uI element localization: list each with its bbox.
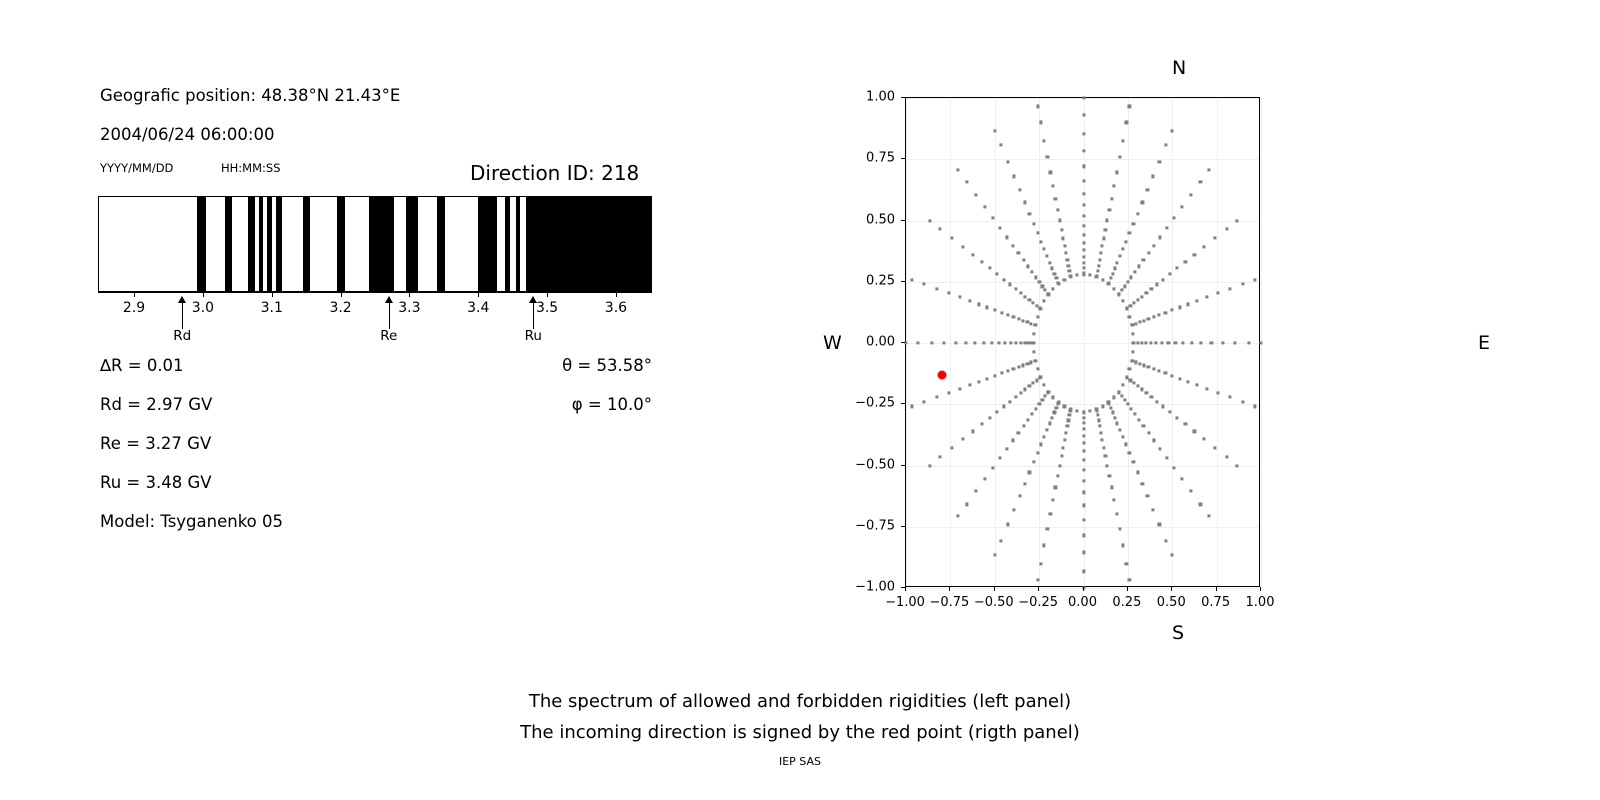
direction-dot [1082, 411, 1085, 414]
direction-dot [1005, 236, 1008, 239]
direction-dot [1032, 461, 1035, 464]
direction-dot [1036, 368, 1039, 371]
direction-dot [1026, 362, 1029, 365]
direction-dot [1060, 455, 1063, 458]
spectrum-tick-label: 3.5 [536, 300, 558, 316]
direction-dot [980, 423, 983, 426]
direction-dot [968, 383, 971, 386]
param-re: Re = 3.27 GV [100, 434, 211, 453]
direction-dot [1082, 272, 1085, 275]
direction-dot [1024, 295, 1027, 298]
direction-dot [1034, 276, 1037, 279]
direction-dot [965, 503, 968, 506]
direction-dot [1142, 259, 1145, 262]
direction-dot [1043, 248, 1046, 251]
direction-dot [988, 416, 991, 419]
direction-dot [977, 380, 980, 383]
direction-dot [1068, 414, 1071, 417]
direction-dot [1118, 255, 1121, 258]
direction-dot [1147, 431, 1150, 434]
direction-dot [1206, 387, 1209, 390]
direction-dot [1121, 435, 1124, 438]
gridline-vertical [1039, 98, 1040, 586]
direction-dot [1041, 285, 1044, 288]
direction-dot [1039, 240, 1042, 243]
direction-dot [1082, 214, 1085, 217]
direction-dot [1064, 431, 1067, 434]
x-axis-tick [1260, 587, 1261, 591]
direction-dot [1082, 570, 1085, 573]
direction-dot [1082, 442, 1085, 445]
direction-dot [1028, 385, 1031, 388]
direction-dot [1067, 419, 1070, 422]
direction-dot [1121, 248, 1124, 251]
direction-dot [1152, 175, 1155, 178]
direction-dot [1199, 503, 1202, 506]
direction-dot [1113, 416, 1116, 419]
direction-dot [1106, 219, 1109, 222]
direction-dot [1176, 416, 1179, 419]
direction-dot [1136, 471, 1139, 474]
direction-dot [1082, 416, 1085, 419]
direction-dot [1121, 544, 1124, 547]
direction-dot [1026, 418, 1029, 421]
forbidden-band [197, 197, 206, 291]
direction-dot [1046, 428, 1049, 431]
direction-dot [1067, 264, 1070, 267]
direction-dot [1036, 578, 1039, 581]
spectrum-tick-label: 3.3 [398, 300, 420, 316]
x-axis-tick-label: −0.50 [974, 595, 1014, 610]
direction-dot [916, 341, 919, 344]
direction-dot [993, 374, 996, 377]
direction-dot [1102, 446, 1105, 449]
direction-dot [1155, 341, 1158, 344]
direction-dot [1193, 253, 1196, 256]
direction-dot [1128, 578, 1131, 581]
direction-dot [1055, 406, 1058, 409]
gridline-vertical [1217, 98, 1218, 586]
direction-dot [1167, 341, 1170, 344]
direction-dot [1207, 515, 1210, 518]
direction-dot [983, 477, 986, 480]
direction-dot [1097, 419, 1100, 422]
direction-dot [1149, 341, 1152, 344]
x-axis-tick-label: 0.50 [1157, 595, 1186, 610]
direction-dot [1200, 341, 1203, 344]
direction-dot [1101, 438, 1104, 441]
direction-dot [1038, 402, 1041, 405]
spectrum-tick-label: 3.0 [192, 300, 214, 316]
direction-dot [1196, 383, 1199, 386]
direction-dot [910, 405, 913, 408]
direction-dot [1036, 231, 1039, 234]
y-axis-tick-label: 0.00 [843, 335, 895, 350]
direction-dot [1203, 438, 1206, 441]
direction-dot [1108, 474, 1111, 477]
param-rd: Rd = 2.97 GV [100, 395, 212, 414]
direction-dot [1066, 258, 1069, 261]
direction-dot [1158, 523, 1161, 526]
direction-dot [993, 129, 996, 132]
direction-dot [1147, 365, 1150, 368]
direction-dot [988, 267, 991, 270]
direction-dot [1184, 260, 1187, 263]
direction-dot [1213, 446, 1216, 449]
direction-dot [1012, 508, 1015, 511]
direction-dot [961, 438, 964, 441]
direction-dot [1145, 291, 1148, 294]
direction-dot [1123, 398, 1126, 401]
forbidden-band [267, 197, 272, 291]
direction-dot [1069, 409, 1072, 412]
marker-arrowhead-icon [178, 296, 186, 303]
direction-scatter-plot [905, 97, 1260, 587]
direction-dot [1199, 180, 1202, 183]
direction-dot [1193, 430, 1196, 433]
direction-dot [1082, 428, 1085, 431]
spectrum-tick-label: 3.2 [329, 300, 351, 316]
direction-dot [1121, 300, 1124, 303]
direction-dot [1124, 443, 1127, 446]
direction-dot [1031, 341, 1034, 344]
direction-dot [1228, 396, 1231, 399]
forbidden-band [303, 197, 310, 291]
forbidden-band [516, 197, 520, 291]
direction-dot [1242, 282, 1245, 285]
direction-dot [1068, 269, 1071, 272]
direction-dot [1008, 283, 1011, 286]
direction-dot [1054, 197, 1057, 200]
direction-dot [1171, 554, 1174, 557]
direction-dot [935, 396, 938, 399]
direction-dot [1116, 261, 1119, 264]
incoming-direction-marker [937, 370, 946, 379]
direction-dot [922, 401, 925, 404]
direction-dot [1118, 527, 1121, 530]
x-axis-tick-label: −1.00 [885, 595, 925, 610]
param-ru: Ru = 3.48 GV [100, 473, 212, 492]
direction-dot [1128, 231, 1131, 234]
direction-dot [1006, 369, 1009, 372]
direction-dot [971, 253, 974, 256]
right-panel: −1.00−0.75−0.50−0.250.000.250.500.751.00… [800, 0, 1600, 660]
direction-dot [1051, 185, 1054, 188]
direction-dot [1034, 407, 1037, 410]
direction-dot [1043, 544, 1046, 547]
forbidden-band [406, 197, 418, 291]
direction-dot [1056, 208, 1059, 211]
forbidden-band [248, 197, 255, 291]
direction-dot [1180, 205, 1183, 208]
direction-dot [1213, 237, 1216, 240]
direction-dot [983, 205, 986, 208]
direction-dot [1051, 267, 1054, 270]
direction-dot [1014, 396, 1017, 399]
direction-dot [975, 193, 978, 196]
direction-dot [950, 446, 953, 449]
direction-dot [1137, 265, 1140, 268]
direction-dot [1012, 315, 1015, 318]
direction-dot [1046, 156, 1049, 159]
direction-dot [1095, 274, 1098, 277]
direction-dot [1137, 418, 1140, 421]
direction-dot [1126, 402, 1129, 405]
direction-dot [996, 273, 999, 276]
direction-dot [1015, 341, 1018, 344]
direction-dot [1144, 341, 1147, 344]
direction-dot [1063, 278, 1066, 281]
direction-dot [922, 282, 925, 285]
direction-dot [1033, 323, 1036, 326]
direction-dot [1082, 96, 1085, 99]
spectrum-tick [616, 292, 617, 297]
direction-dot [1023, 482, 1026, 485]
direction-dot [1096, 269, 1099, 272]
direction-dot [997, 341, 1000, 344]
direction-dot [1111, 411, 1114, 414]
gridline-horizontal [906, 282, 1259, 283]
direction-dot [1203, 245, 1206, 248]
direction-dot [1082, 113, 1085, 116]
marker-arrowhead-icon [529, 296, 537, 303]
spectrum-tick-label: 2.9 [123, 300, 145, 316]
direction-dot [1147, 252, 1150, 255]
x-axis-tick [1216, 587, 1217, 591]
direction-dot [1253, 278, 1256, 281]
forbidden-band [369, 197, 395, 291]
direction-dot [1113, 267, 1116, 270]
direction-dot [1017, 365, 1020, 368]
direction-dot [1039, 443, 1042, 446]
direction-dot [1101, 405, 1104, 408]
direction-dot [1142, 424, 1145, 427]
direction-dot [1069, 274, 1072, 277]
param-phi: φ = 10.0° [572, 395, 652, 414]
forbidden-band [478, 197, 497, 291]
direction-dot [1088, 273, 1091, 276]
direction-dot [1112, 185, 1115, 188]
direction-dot [1178, 377, 1181, 380]
direction-dot [1082, 504, 1085, 507]
direction-dot [1189, 193, 1192, 196]
direction-dot [986, 377, 989, 380]
direction-id-label: Direction ID: 218 [470, 161, 639, 185]
direction-dot [1011, 439, 1014, 442]
direction-dot [1006, 160, 1009, 163]
time-format-hint: HH:MM:SS [221, 161, 281, 175]
direction-dot [1062, 446, 1065, 449]
direction-dot [1225, 227, 1228, 230]
direction-dot [1048, 422, 1051, 425]
direction-dot [999, 227, 1002, 230]
direction-dot [1111, 272, 1114, 275]
direction-dot [1005, 447, 1008, 450]
direction-dot [1259, 341, 1262, 344]
direction-dot [1012, 367, 1015, 370]
direction-dot [980, 260, 983, 263]
direction-dot [1134, 361, 1137, 364]
direction-dot [1019, 291, 1022, 294]
direction-dot [1028, 212, 1031, 215]
direction-dot [1118, 428, 1121, 431]
direction-dot [1024, 388, 1027, 391]
direction-dot [1228, 287, 1231, 290]
direction-dot [1110, 197, 1113, 200]
direction-dot [1038, 376, 1041, 379]
direction-dot [1097, 264, 1100, 267]
direction-dot [991, 466, 994, 469]
direction-dot [1126, 280, 1129, 283]
direction-dot [1055, 277, 1058, 280]
direction-dot [1002, 405, 1005, 408]
direction-dot [1158, 236, 1161, 239]
direction-dot [1165, 227, 1168, 230]
direction-dot [1082, 518, 1085, 521]
direction-dot [1026, 321, 1029, 324]
direction-dot [986, 306, 989, 309]
datetime-value: 2004/06/24 06:00:00 [100, 125, 274, 144]
direction-dot [1064, 252, 1067, 255]
y-axis-tick [901, 403, 905, 404]
direction-dot [1168, 273, 1171, 276]
direction-dot [1129, 407, 1132, 410]
spectrum-tick-label: 3.4 [467, 300, 489, 316]
direction-dot [1216, 292, 1219, 295]
direction-dot [1180, 477, 1183, 480]
direction-dot [1116, 422, 1119, 425]
direction-dot [1107, 402, 1110, 405]
direction-dot [1033, 359, 1036, 362]
direction-dot [939, 456, 942, 459]
direction-dot [1082, 468, 1085, 471]
direction-dot [1158, 160, 1161, 163]
direction-dot [1168, 410, 1171, 413]
x-axis-tick [1127, 587, 1128, 591]
direction-dot [935, 287, 938, 290]
y-axis-tick-label: −0.50 [843, 457, 895, 472]
direction-dot [1063, 405, 1066, 408]
direction-dot [999, 539, 1002, 542]
direction-dot [1030, 322, 1033, 325]
direction-dot [1032, 301, 1035, 304]
direction-dot [1236, 219, 1239, 222]
direction-dot [1039, 562, 1042, 565]
direction-dot [1152, 508, 1155, 511]
direction-dot [1164, 311, 1167, 314]
direction-dot [1186, 303, 1189, 306]
x-axis-tick [949, 587, 950, 591]
direction-dot [1082, 534, 1085, 537]
direction-dot [1152, 244, 1155, 247]
direction-dot [1022, 424, 1025, 427]
y-axis-tick-label: −1.00 [843, 580, 895, 595]
direction-dot [1036, 105, 1039, 108]
direction-dot [1112, 287, 1115, 290]
direction-dot [1051, 498, 1054, 501]
direction-dot [1206, 296, 1209, 299]
direction-dot [1133, 271, 1136, 274]
direction-dot [1082, 249, 1085, 252]
direction-dot [968, 299, 971, 302]
direction-dot [1140, 295, 1143, 298]
gridline-horizontal [906, 159, 1259, 160]
direction-dot [1109, 277, 1112, 280]
direction-dot [1036, 315, 1039, 318]
direction-dot [1011, 244, 1014, 247]
direction-dot [1106, 464, 1109, 467]
y-axis-tick [901, 220, 905, 221]
y-axis-tick-label: −0.25 [843, 396, 895, 411]
spectrum-tick [203, 292, 204, 297]
direction-dot [1190, 341, 1193, 344]
gridline-vertical [1084, 98, 1085, 586]
direction-dot [1002, 278, 1005, 281]
y-axis-tick-label: 0.50 [843, 212, 895, 227]
x-axis-tick-label: 1.00 [1246, 595, 1275, 610]
direction-dot [1000, 311, 1003, 314]
direction-dot [1128, 315, 1131, 318]
direction-dot [1024, 341, 1027, 344]
direction-dot [1082, 422, 1085, 425]
direction-dot [1017, 317, 1020, 320]
geographic-position: Geografic position: 48.38°N 21.43°E [100, 86, 400, 105]
direction-dot [1053, 272, 1056, 275]
direction-dot [1236, 464, 1239, 467]
direction-dot [1171, 129, 1174, 132]
direction-dot [1058, 464, 1061, 467]
direction-dot [1022, 364, 1025, 367]
direction-dot [1017, 431, 1020, 434]
direction-dot [947, 391, 950, 394]
direction-dot [1022, 319, 1025, 322]
forbidden-band [276, 197, 282, 291]
direction-dot [1044, 289, 1047, 292]
direction-dot [1049, 512, 1052, 515]
direction-dot [1075, 273, 1078, 276]
direction-dot [1075, 409, 1078, 412]
direction-dot [1124, 240, 1127, 243]
direction-dot [1009, 341, 1012, 344]
param-model: Model: Tsyganenko 05 [100, 512, 283, 531]
direction-dot [1216, 391, 1219, 394]
direction-dot [947, 292, 950, 295]
direction-dot [1152, 367, 1155, 370]
gridline-vertical [1128, 98, 1129, 586]
direction-dot [1176, 267, 1179, 270]
direction-dot [991, 216, 994, 219]
direction-dot [1051, 416, 1054, 419]
spectrum-tick [272, 292, 273, 297]
direction-dot [1136, 298, 1139, 301]
direction-dot [1082, 233, 1085, 236]
compass-east-label: E [1478, 332, 1490, 354]
direction-dot [1018, 188, 1021, 191]
compass-north-label: N [1172, 57, 1186, 79]
direction-dot [1112, 498, 1115, 501]
y-axis-tick [901, 97, 905, 98]
spectrum-bar [98, 196, 652, 292]
direction-dot [1165, 539, 1168, 542]
gridline-horizontal [906, 404, 1259, 405]
direction-dot [1129, 276, 1132, 279]
direction-dot [1082, 551, 1085, 554]
forbidden-band [259, 197, 263, 291]
direction-dot [1162, 278, 1165, 281]
direction-dot [928, 464, 931, 467]
forbidden-band [437, 197, 445, 291]
direction-dot [993, 554, 996, 557]
